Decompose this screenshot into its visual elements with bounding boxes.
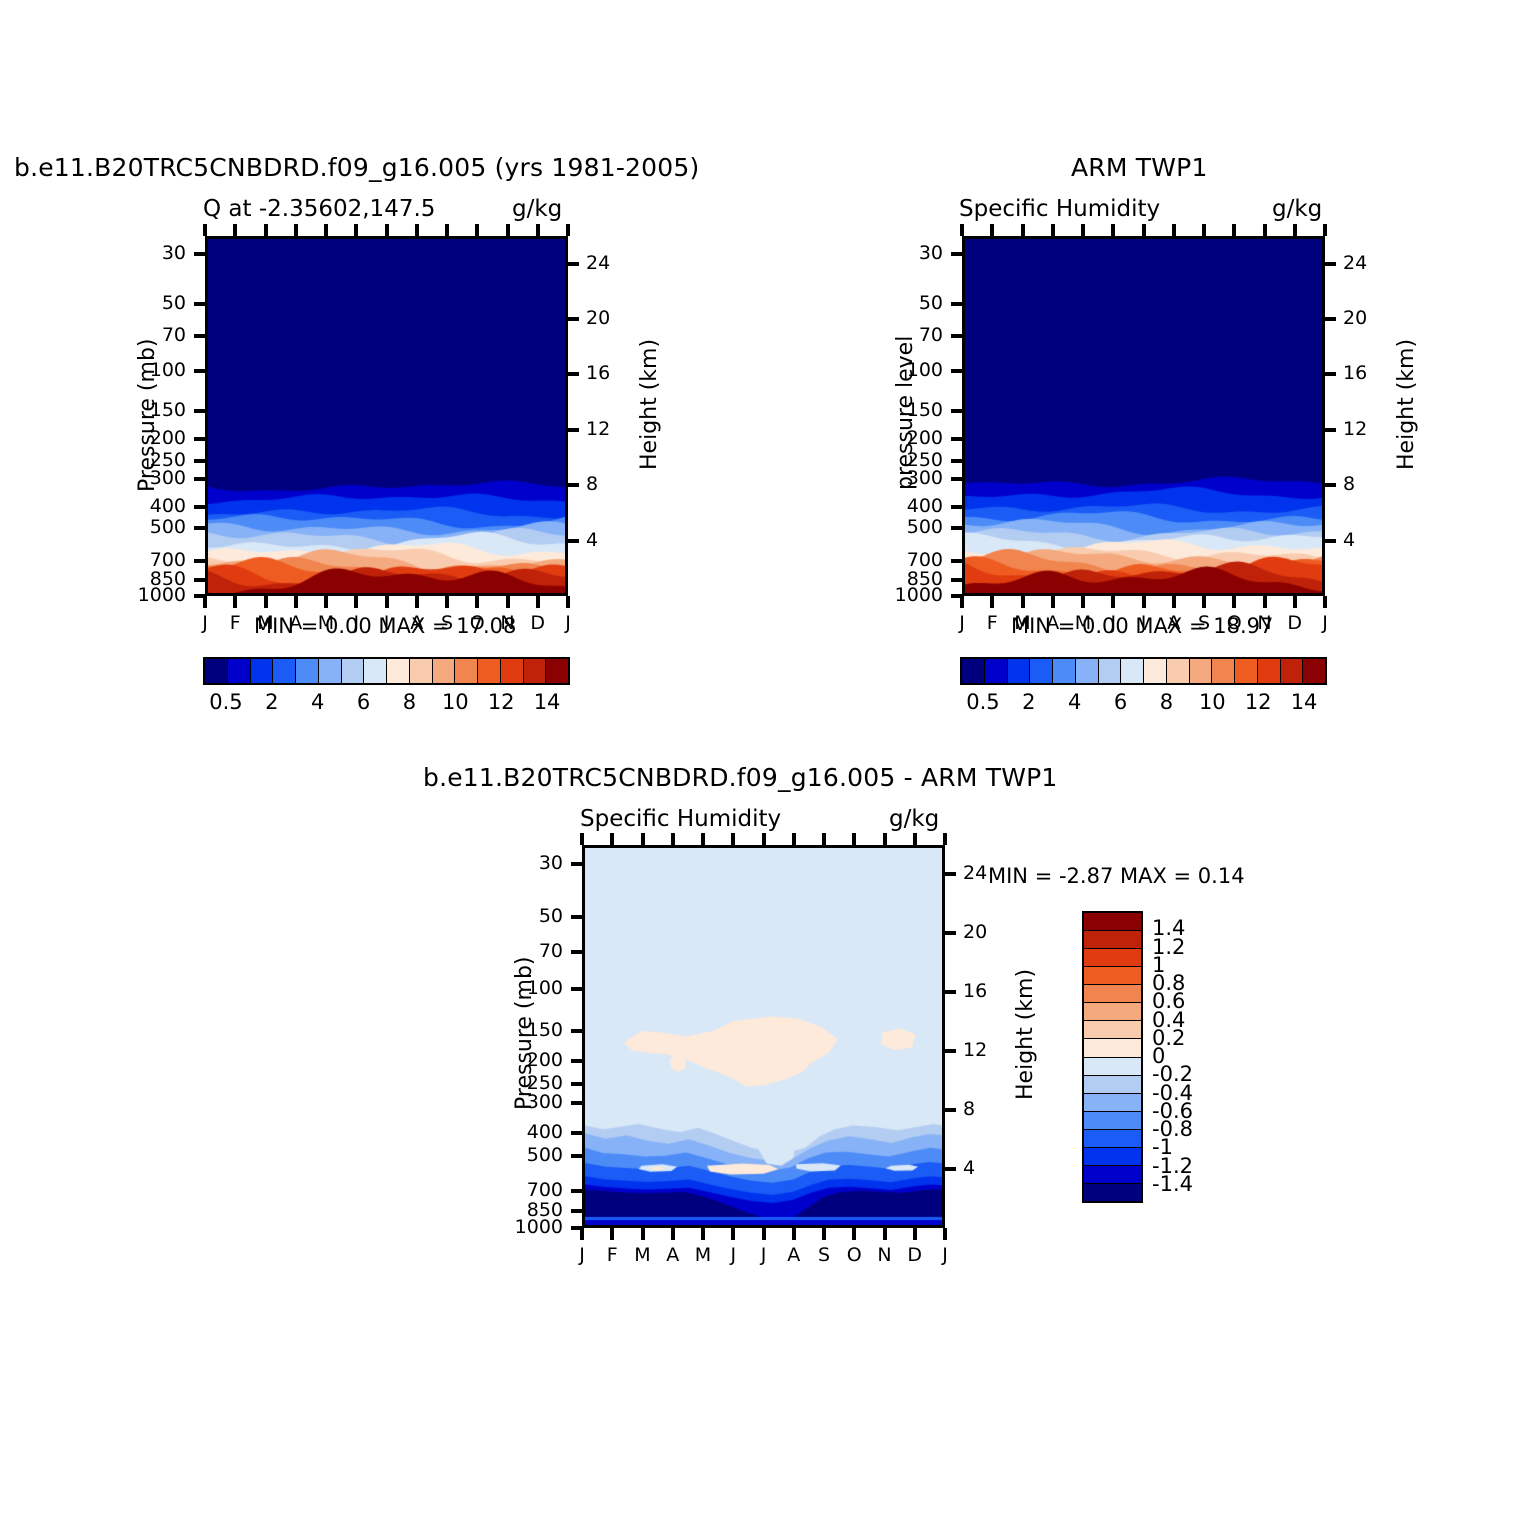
- month-label: F: [230, 612, 241, 634]
- pressure-tick-label: 200: [527, 1049, 563, 1071]
- height-tick-label: 16: [1343, 362, 1367, 384]
- top-left-units: g/kg: [512, 196, 562, 222]
- month-tick: [1142, 596, 1146, 608]
- top-left-contour-plot: [205, 236, 568, 596]
- colorbar-cell-0: [205, 659, 228, 683]
- colorbar-cell-13: [1258, 659, 1281, 683]
- month-tick: [960, 224, 964, 236]
- month-label: A: [1046, 612, 1059, 634]
- bottom-units: g/kg: [889, 806, 939, 832]
- colorbar-cell-7: [364, 659, 387, 683]
- month-tick: [701, 1228, 705, 1240]
- colorbar-tick-label: 14: [534, 690, 561, 714]
- top-right-panel-title: ARM TWP1: [1071, 153, 1208, 182]
- pressure-tick: [571, 1154, 582, 1158]
- height-tick-label: 8: [963, 1098, 975, 1120]
- month-label: J: [959, 612, 965, 634]
- top-left-contour-canvas: [208, 239, 565, 593]
- height-tick: [945, 1049, 956, 1053]
- month-label: J: [384, 612, 390, 634]
- height-tick-label: 12: [963, 1039, 987, 1061]
- month-tick: [1202, 224, 1206, 236]
- diff-colorbar-cell-11: [1084, 1112, 1141, 1130]
- diff-colorbar-cell-8: [1084, 1058, 1141, 1076]
- month-tick: [1323, 224, 1327, 236]
- colorbar-cell-7: [1121, 659, 1144, 683]
- pressure-tick-label: 200: [907, 427, 943, 449]
- height-tick: [945, 872, 956, 876]
- month-label: A: [410, 612, 423, 634]
- colorbar-cell-11: [455, 659, 478, 683]
- top-right-contour-canvas: [965, 239, 1322, 593]
- month-tick: [354, 224, 358, 236]
- month-tick: [701, 833, 705, 845]
- colorbar-tick-label: 8: [403, 690, 416, 714]
- colorbar-tick-label: 8: [1160, 690, 1173, 714]
- month-tick: [233, 224, 237, 236]
- month-tick: [990, 224, 994, 236]
- pressure-tick: [194, 477, 205, 481]
- month-tick: [536, 224, 540, 236]
- pressure-tick: [951, 252, 962, 256]
- pressure-tick: [571, 1059, 582, 1063]
- month-label: A: [289, 612, 302, 634]
- month-label: J: [353, 612, 359, 634]
- colorbar-cell-4: [296, 659, 319, 683]
- pressure-tick-label: 500: [907, 516, 943, 538]
- colorbar-cell-4: [1053, 659, 1076, 683]
- month-tick: [1142, 224, 1146, 236]
- pressure-tick-label: 1000: [138, 584, 186, 606]
- colorbar-cell-1: [985, 659, 1008, 683]
- top-left-panel-title: b.e11.B20TRC5CNBDRD.f09_g16.005 (yrs 198…: [14, 153, 699, 182]
- month-tick: [671, 833, 675, 845]
- pressure-tick: [194, 559, 205, 563]
- month-label: F: [607, 1244, 618, 1266]
- height-tick-label: 20: [1343, 307, 1367, 329]
- pressure-tick: [951, 505, 962, 509]
- month-label: O: [1227, 612, 1242, 634]
- bottom-panel-title: b.e11.B20TRC5CNBDRD.f09_g16.005 - ARM TW…: [423, 763, 1058, 792]
- month-label: S: [1198, 612, 1210, 634]
- pressure-tick-label: 400: [907, 495, 943, 517]
- month-tick: [580, 1228, 584, 1240]
- pressure-tick-label: 150: [907, 399, 943, 421]
- pressure-tick: [571, 1029, 582, 1033]
- pressure-tick: [571, 1101, 582, 1105]
- pressure-tick-label: 1000: [895, 584, 943, 606]
- top-right-contour-plot: [962, 236, 1325, 596]
- pressure-tick: [951, 477, 962, 481]
- pressure-tick-label: 30: [162, 242, 186, 264]
- month-tick: [294, 596, 298, 608]
- height-tick-label: 24: [1343, 252, 1367, 274]
- month-tick: [883, 833, 887, 845]
- month-label: M: [257, 612, 273, 634]
- diff-colorbar-cell-6: [1084, 1021, 1141, 1039]
- month-tick: [792, 1228, 796, 1240]
- month-tick: [852, 1228, 856, 1240]
- height-tick-label: 16: [586, 362, 610, 384]
- height-tick-label: 20: [586, 307, 610, 329]
- height-tick: [945, 1108, 956, 1112]
- pressure-tick: [194, 578, 205, 582]
- height-tick-label: 20: [963, 921, 987, 943]
- colorbar-cell-2: [251, 659, 274, 683]
- diff-colorbar-cell-1: [1084, 931, 1141, 949]
- colorbar-tick-label: 2: [265, 690, 278, 714]
- height-tick: [1325, 539, 1336, 543]
- bottom-subtitle-left: Specific Humidity: [580, 806, 781, 832]
- month-label: J: [761, 1244, 767, 1266]
- month-label: M: [318, 612, 334, 634]
- month-tick: [566, 224, 570, 236]
- top-right-subtitle-left: Specific Humidity: [959, 196, 1160, 222]
- pressure-tick-label: 30: [539, 852, 563, 874]
- pressure-tick-label: 100: [527, 977, 563, 999]
- month-label: J: [1322, 612, 1328, 634]
- height-tick: [568, 483, 579, 487]
- diff-colorbar-cell-0: [1084, 913, 1141, 931]
- pressure-tick-label: 300: [527, 1091, 563, 1113]
- month-tick: [506, 224, 510, 236]
- colorbar-tick-label: 12: [1245, 690, 1272, 714]
- pressure-tick: [194, 252, 205, 256]
- colorbar-cell-10: [1190, 659, 1213, 683]
- month-tick: [1081, 596, 1085, 608]
- colorbar-tick-label: 10: [442, 690, 469, 714]
- pressure-tick: [194, 302, 205, 306]
- pressure-tick-label: 70: [539, 940, 563, 962]
- month-label: J: [565, 612, 571, 634]
- colorbar-cell-9: [410, 659, 433, 683]
- month-label: J: [1110, 612, 1116, 634]
- month-label: M: [1014, 612, 1030, 634]
- height-tick: [1325, 428, 1336, 432]
- height-tick: [1325, 262, 1336, 266]
- pressure-tick: [194, 437, 205, 441]
- pressure-tick: [571, 1189, 582, 1193]
- month-tick: [1202, 596, 1206, 608]
- pressure-tick-label: 50: [162, 292, 186, 314]
- month-tick: [1263, 596, 1267, 608]
- colorbar-tick-label: 6: [357, 690, 370, 714]
- pressure-tick: [571, 1209, 582, 1213]
- colorbar-cell-6: [1099, 659, 1122, 683]
- month-tick: [203, 224, 207, 236]
- diff-colorbar-cell-10: [1084, 1094, 1141, 1112]
- month-tick: [445, 596, 449, 608]
- month-tick: [762, 1228, 766, 1240]
- month-tick: [641, 1228, 645, 1240]
- month-tick: [324, 596, 328, 608]
- pressure-tick: [571, 987, 582, 991]
- month-label: S: [441, 612, 453, 634]
- month-label: J: [942, 1244, 948, 1266]
- month-tick: [762, 833, 766, 845]
- colorbar-tick-label: 10: [1199, 690, 1226, 714]
- month-label: O: [470, 612, 485, 634]
- pressure-tick-label: 100: [150, 359, 186, 381]
- height-tick: [945, 1167, 956, 1171]
- month-label: A: [666, 1244, 679, 1266]
- bottom-contour-plot: [582, 845, 945, 1228]
- colorbar-cell-0: [962, 659, 985, 683]
- pressure-tick: [951, 302, 962, 306]
- month-label: N: [877, 1244, 891, 1266]
- colorbar-cell-6: [342, 659, 365, 683]
- month-label: D: [907, 1244, 922, 1266]
- height-tick: [945, 990, 956, 994]
- month-label: N: [500, 612, 514, 634]
- pressure-tick-label: 700: [527, 1179, 563, 1201]
- diff-colorbar-cell-13: [1084, 1148, 1141, 1166]
- month-label: J: [1141, 612, 1147, 634]
- pressure-tick: [194, 334, 205, 338]
- pressure-tick: [194, 505, 205, 509]
- height-tick-label: 12: [1343, 418, 1367, 440]
- colorbar-cell-8: [387, 659, 410, 683]
- diff-colorbar-cell-2: [1084, 949, 1141, 967]
- colorbar-tick-label: 12: [488, 690, 515, 714]
- height-tick: [568, 428, 579, 432]
- month-label: S: [818, 1244, 830, 1266]
- month-label: O: [847, 1244, 862, 1266]
- colorbar-tick-label: 6: [1114, 690, 1127, 714]
- month-tick: [822, 1228, 826, 1240]
- height-tick: [1325, 483, 1336, 487]
- colorbar-tick-label: 0.5: [209, 690, 242, 714]
- month-tick: [566, 596, 570, 608]
- month-label: J: [579, 1244, 585, 1266]
- pressure-tick-label: 400: [527, 1121, 563, 1143]
- month-tick: [671, 1228, 675, 1240]
- month-tick: [822, 833, 826, 845]
- month-tick: [641, 833, 645, 845]
- pressure-tick-label: 400: [150, 495, 186, 517]
- top-left-colorbar[interactable]: [203, 657, 570, 685]
- diff-colorbar-cell-14: [1084, 1166, 1141, 1184]
- colorbar-cell-2: [1008, 659, 1031, 683]
- month-label: F: [987, 612, 998, 634]
- colorbar-tick-label: 2: [1022, 690, 1035, 714]
- top-right-units: g/kg: [1272, 196, 1322, 222]
- top-left-subtitle-left: Q at -2.35602,147.5: [203, 196, 435, 222]
- pressure-tick-label: 100: [907, 359, 943, 381]
- month-tick: [792, 833, 796, 845]
- month-tick: [385, 596, 389, 608]
- month-tick: [580, 833, 584, 845]
- pressure-tick-label: 50: [539, 905, 563, 927]
- pressure-tick-label: 200: [150, 427, 186, 449]
- colorbar-cell-14: [524, 659, 547, 683]
- pressure-tick: [194, 369, 205, 373]
- month-tick: [1021, 224, 1025, 236]
- colorbar-cell-12: [478, 659, 501, 683]
- height-tick: [1325, 317, 1336, 321]
- height-tick-label: 4: [586, 529, 598, 551]
- month-tick: [1111, 224, 1115, 236]
- pressure-tick: [194, 526, 205, 530]
- height-tick-label: 8: [1343, 473, 1355, 495]
- pressure-tick-label: 150: [150, 399, 186, 421]
- month-tick: [883, 1228, 887, 1240]
- month-tick: [1051, 224, 1055, 236]
- pressure-tick: [951, 409, 962, 413]
- pressure-tick-label: 300: [150, 467, 186, 489]
- month-tick: [1021, 596, 1025, 608]
- height-tick: [1325, 372, 1336, 376]
- pressure-tick: [951, 334, 962, 338]
- month-tick: [1323, 596, 1327, 608]
- month-tick: [610, 1228, 614, 1240]
- height-tick: [568, 262, 579, 266]
- month-label: D: [530, 612, 545, 634]
- pressure-tick: [571, 1131, 582, 1135]
- colorbar-cell-1: [228, 659, 251, 683]
- month-label: J: [730, 1244, 736, 1266]
- colorbar-cell-15: [546, 659, 568, 683]
- colorbar-cell-12: [1235, 659, 1258, 683]
- month-tick: [203, 596, 207, 608]
- pressure-tick-label: 500: [527, 1144, 563, 1166]
- colorbar-cell-3: [1030, 659, 1053, 683]
- month-tick: [852, 833, 856, 845]
- height-tick-label: 24: [963, 862, 987, 884]
- pressure-tick: [951, 526, 962, 530]
- height-tick: [568, 317, 579, 321]
- top-right-ylabel-right: Height (km): [1394, 339, 1419, 470]
- month-tick: [1293, 224, 1297, 236]
- month-tick: [1232, 224, 1236, 236]
- month-label: N: [1257, 612, 1271, 634]
- pressure-tick-label: 70: [919, 324, 943, 346]
- bottom-minmax: MIN = -2.87 MAX = 0.14: [988, 864, 1245, 888]
- diff-colorbar-cell-9: [1084, 1076, 1141, 1094]
- pressure-tick-label: 500: [150, 516, 186, 538]
- month-tick: [731, 1228, 735, 1240]
- month-label: A: [1167, 612, 1180, 634]
- pressure-tick-label: 300: [907, 467, 943, 489]
- month-tick: [264, 224, 268, 236]
- month-label: M: [634, 1244, 650, 1266]
- colorbar-cell-10: [433, 659, 456, 683]
- diff-colorbar-cell-12: [1084, 1130, 1141, 1148]
- colorbar-tick-label: 14: [1291, 690, 1318, 714]
- pressure-tick: [951, 459, 962, 463]
- pressure-tick: [194, 459, 205, 463]
- height-tick-label: 12: [586, 418, 610, 440]
- pressure-tick-label: 70: [162, 324, 186, 346]
- pressure-tick: [194, 409, 205, 413]
- month-tick: [324, 224, 328, 236]
- height-tick-label: 24: [586, 252, 610, 274]
- pressure-tick: [951, 437, 962, 441]
- month-label: J: [202, 612, 208, 634]
- pressure-tick-label: 150: [527, 1019, 563, 1041]
- diff-colorbar-tick-label: -1.4: [1152, 1172, 1193, 1196]
- top-right-colorbar[interactable]: [960, 657, 1327, 685]
- pressure-tick: [571, 950, 582, 954]
- height-tick-label: 8: [586, 473, 598, 495]
- month-tick: [536, 596, 540, 608]
- pressure-tick: [571, 862, 582, 866]
- diff-colorbar-cell-15: [1084, 1184, 1141, 1201]
- bottom-ylabel-right: Height (km): [1013, 969, 1038, 1100]
- pressure-tick: [571, 915, 582, 919]
- month-tick: [445, 224, 449, 236]
- month-tick: [610, 833, 614, 845]
- diff-colorbar-cell-4: [1084, 985, 1141, 1003]
- height-tick-label: 16: [963, 980, 987, 1002]
- colorbar-cell-5: [319, 659, 342, 683]
- height-tick-label: 4: [1343, 529, 1355, 551]
- month-tick: [943, 833, 947, 845]
- height-tick: [568, 372, 579, 376]
- month-tick: [913, 833, 917, 845]
- colorbar-tick-label: 0.5: [966, 690, 999, 714]
- month-tick: [913, 1228, 917, 1240]
- month-tick: [1232, 596, 1236, 608]
- month-tick: [415, 224, 419, 236]
- colorbar-cell-13: [501, 659, 524, 683]
- pressure-tick-label: 30: [919, 242, 943, 264]
- top-left-ylabel-right: Height (km): [637, 339, 662, 470]
- month-tick: [1081, 224, 1085, 236]
- month-tick: [475, 224, 479, 236]
- month-tick: [1051, 596, 1055, 608]
- bottom-contour-canvas: [585, 848, 942, 1225]
- month-tick: [990, 596, 994, 608]
- diff-colorbar-cell-3: [1084, 967, 1141, 985]
- colorbar-cell-3: [273, 659, 296, 683]
- colorbar-cell-9: [1167, 659, 1190, 683]
- diff-colorbar-cell-5: [1084, 1003, 1141, 1021]
- colorbar-cell-8: [1144, 659, 1167, 683]
- month-tick: [731, 833, 735, 845]
- month-label: D: [1287, 612, 1302, 634]
- pressure-tick: [951, 578, 962, 582]
- month-tick: [354, 596, 358, 608]
- month-tick: [943, 1228, 947, 1240]
- month-tick: [506, 596, 510, 608]
- colorbar-cell-14: [1281, 659, 1304, 683]
- month-tick: [1111, 596, 1115, 608]
- month-label: M: [695, 1244, 711, 1266]
- difference-colorbar[interactable]: [1082, 911, 1143, 1203]
- month-tick: [385, 224, 389, 236]
- pressure-tick-label: 50: [919, 292, 943, 314]
- pressure-tick: [951, 369, 962, 373]
- height-tick: [568, 539, 579, 543]
- month-tick: [1172, 596, 1176, 608]
- month-tick: [294, 224, 298, 236]
- month-label: M: [1075, 612, 1091, 634]
- month-label: A: [787, 1244, 800, 1266]
- month-tick: [264, 596, 268, 608]
- colorbar-cell-15: [1303, 659, 1325, 683]
- month-tick: [1263, 224, 1267, 236]
- height-tick: [945, 931, 956, 935]
- colorbar-tick-label: 4: [311, 690, 324, 714]
- month-tick: [415, 596, 419, 608]
- month-tick: [233, 596, 237, 608]
- pressure-tick: [571, 1082, 582, 1086]
- month-tick: [960, 596, 964, 608]
- month-tick: [475, 596, 479, 608]
- pressure-tick-label: 1000: [515, 1216, 563, 1238]
- colorbar-cell-11: [1212, 659, 1235, 683]
